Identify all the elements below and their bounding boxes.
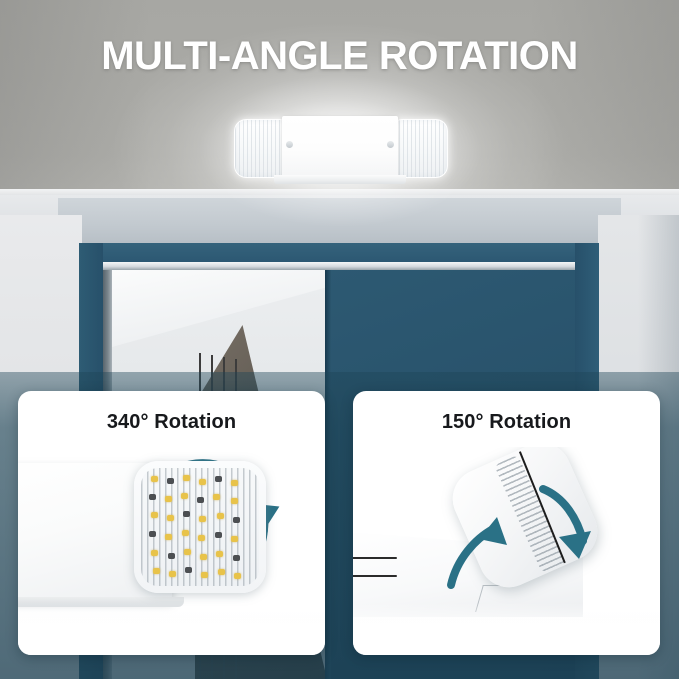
illustration-340 bbox=[18, 447, 325, 655]
tilt-arrow-up-icon bbox=[441, 513, 511, 591]
led-lamp-head bbox=[134, 461, 266, 593]
card-rotation-150[interactable]: 150° Rotation bbox=[353, 391, 660, 655]
card-rotation-340[interactable]: 340° Rotation bbox=[18, 391, 325, 655]
card-floor-fade bbox=[353, 603, 660, 655]
tilt-arrow-down-icon bbox=[529, 483, 599, 563]
led-chip-grid bbox=[141, 468, 259, 586]
card-floor-fade bbox=[18, 603, 325, 655]
feature-cards: 340° Rotation bbox=[0, 0, 679, 679]
product-feature-image: MULTI-ANGLE ROTATION 340° Rotation bbox=[0, 0, 679, 679]
base-slot bbox=[353, 575, 397, 577]
card-title-150: 150° Rotation bbox=[353, 411, 660, 434]
illustration-150 bbox=[353, 447, 660, 655]
card-title-340: 340° Rotation bbox=[18, 411, 325, 434]
base-slot bbox=[353, 557, 397, 559]
